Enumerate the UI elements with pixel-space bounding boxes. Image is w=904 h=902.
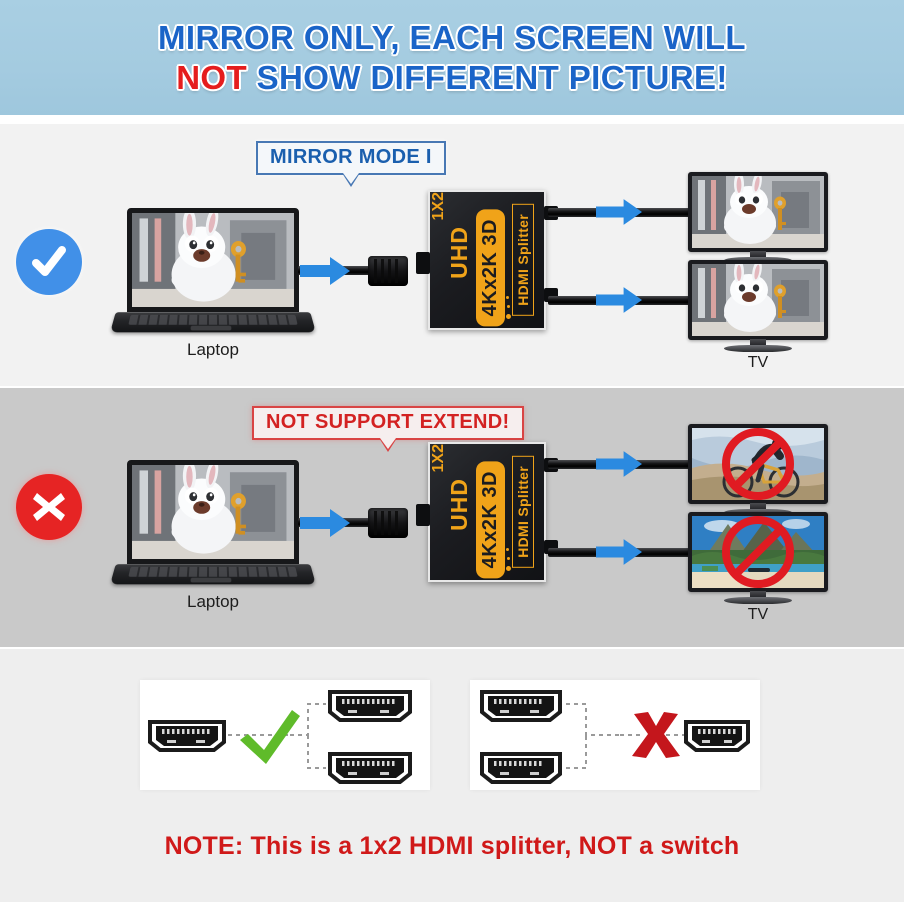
device-input-port — [416, 504, 430, 526]
laptop-keyboard — [128, 567, 297, 577]
callout-mirror-mode: MIRROR MODE I — [256, 141, 446, 175]
prohibition-icon — [719, 513, 797, 591]
panel-not-support-extend: NOT SUPPORT EXTEND! — [0, 388, 904, 647]
header-line-2-rest: SHOW DIFFERENT PICTURE! — [247, 59, 728, 96]
hdmi-port-input — [150, 722, 224, 750]
tv-label: TV — [688, 606, 828, 624]
rabbit-image — [692, 176, 824, 248]
output-display-monitor: Monitor — [688, 172, 828, 264]
laptop-screen — [127, 208, 299, 312]
monitor-screen — [688, 172, 828, 252]
device-input-port — [416, 252, 430, 274]
prohibition-icon — [719, 425, 797, 503]
laptop-source: Laptop — [113, 460, 313, 588]
laptop-keyboard — [128, 315, 297, 325]
flow-arrow-icon — [300, 509, 350, 537]
hdmi-port-input-1 — [482, 692, 560, 720]
header-line-1: MIRROR ONLY, EACH SCREEN WILL — [158, 19, 746, 57]
hdmi-splitter-device: UHD 4Kx2K 3D HDMI Splitter 1X2 — [428, 442, 546, 582]
tv-screen — [688, 512, 828, 592]
hdmi-splitter-device: UHD 4Kx2K 3D HDMI Splitter 1X2 — [428, 190, 546, 330]
header-line-2: NOT SHOW DIFFERENT PICTURE! — [176, 59, 728, 97]
device-channel-text: 1X2 — [430, 444, 448, 472]
tv-stand-base — [724, 345, 792, 352]
rabbit-image — [132, 465, 294, 559]
flow-arrow-icon — [596, 451, 642, 477]
laptop-label: Laptop — [113, 340, 313, 360]
device-channel-text: 1X2 — [430, 192, 448, 220]
tv-screen — [688, 260, 828, 340]
flow-arrow-icon — [596, 539, 642, 565]
check-icon — [27, 240, 71, 284]
output-display-monitor: Monitor — [688, 424, 828, 516]
device-type-text: HDMI Splitter — [512, 204, 534, 316]
laptop-source: Laptop — [113, 208, 313, 336]
header-banner: MIRROR ONLY, EACH SCREEN WILL NOT SHOW D… — [0, 0, 904, 115]
status-badge-check — [16, 229, 82, 295]
one-to-two-connection-graphic — [140, 680, 430, 790]
monitor-screen — [688, 424, 828, 504]
callout-not-support-extend: NOT SUPPORT EXTEND! — [252, 406, 524, 440]
device-dots-decoration — [499, 296, 513, 322]
output-display-tv: TV — [688, 260, 828, 352]
two-to-one-connection-graphic — [470, 680, 760, 790]
device-type-text: HDMI Splitter — [512, 456, 534, 568]
cross-icon — [29, 487, 69, 527]
laptop-base — [110, 564, 316, 584]
hdmi-port-output-2 — [330, 754, 410, 782]
device-brand-text: UHD — [446, 226, 473, 279]
diagram-one-to-two-supported — [140, 680, 430, 790]
flow-arrow-icon — [596, 287, 642, 313]
laptop-base — [110, 312, 316, 332]
hdmi-port-output — [686, 722, 748, 750]
footer-note: NOTE: This is a 1x2 HDMI splitter, NOT a… — [0, 832, 904, 861]
diagram-two-to-one-unsupported — [470, 680, 760, 790]
laptop-label: Laptop — [113, 592, 313, 612]
rabbit-image — [692, 264, 824, 336]
laptop-screen — [127, 460, 299, 564]
laptop-trackpad — [190, 326, 231, 331]
tv-stand-base — [724, 597, 792, 604]
footer-zone — [0, 649, 904, 902]
check-icon — [240, 710, 300, 764]
tv-label: TV — [688, 354, 828, 372]
status-badge-cross — [16, 474, 82, 540]
device-brand-text: UHD — [446, 478, 473, 531]
laptop-trackpad — [190, 578, 231, 583]
flow-arrow-icon — [300, 257, 350, 285]
panel-mirror-mode: MIRROR MODE I — [0, 124, 904, 386]
flow-arrow-icon — [596, 199, 642, 225]
hdmi-plug — [368, 256, 408, 286]
header-highlight-not: NOT — [176, 59, 247, 96]
hdmi-port-output-1 — [330, 692, 410, 720]
output-display-tv: TV — [688, 512, 828, 604]
device-dots-decoration — [499, 548, 513, 574]
rabbit-image — [132, 213, 294, 307]
hdmi-port-input-2 — [482, 754, 560, 782]
hdmi-plug — [368, 508, 408, 538]
